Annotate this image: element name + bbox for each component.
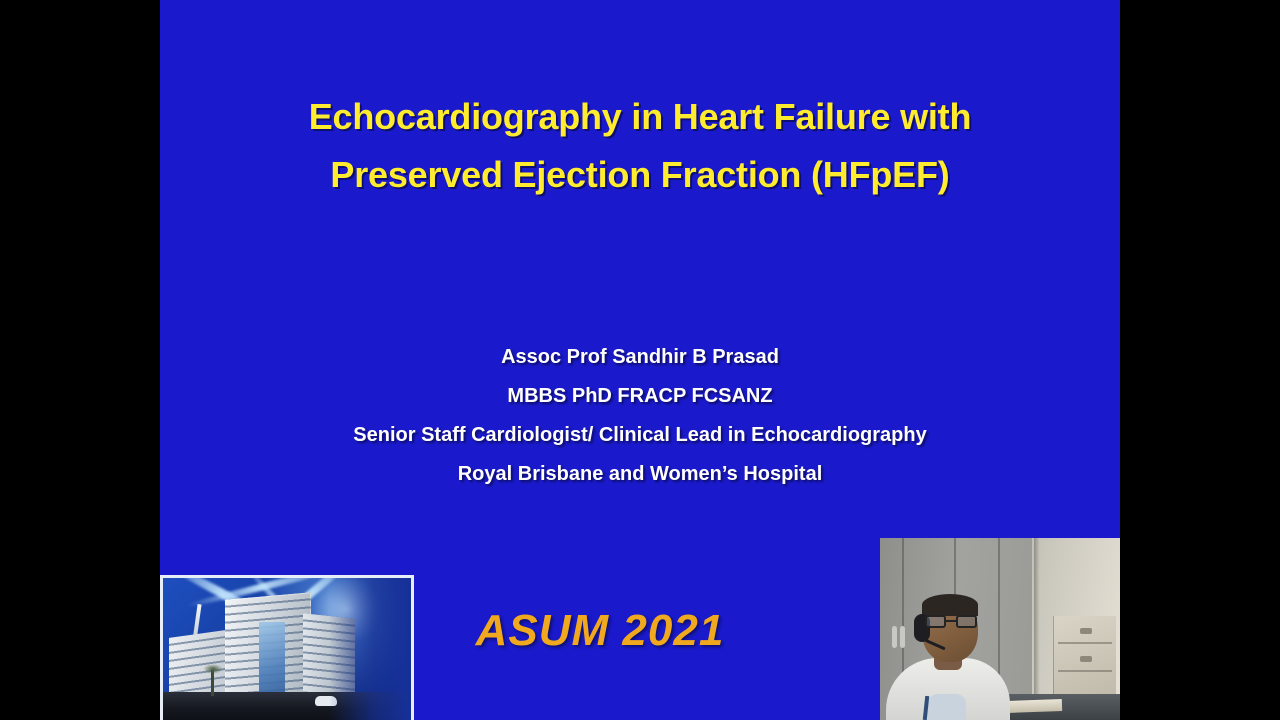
glasses-lens-right: [956, 615, 977, 628]
presenter-institution: Royal Brisbane and Women’s Hospital: [160, 455, 1120, 494]
slide-title-line-1: Echocardiography in Heart Failure with: [160, 88, 1120, 146]
drawer-knob: [1080, 656, 1092, 662]
webcam-papers: [1008, 699, 1062, 713]
video-player-viewport: Echocardiography in Heart Failure with P…: [0, 0, 1280, 720]
glasses-icon: [925, 615, 977, 628]
drawer-seam: [1058, 670, 1112, 672]
slide-title-line-2: Preserved Ejection Fraction (HFpEF): [160, 146, 1120, 204]
presenter-name: Assoc Prof Sandhir B Prasad: [160, 338, 1120, 377]
palm-tree-icon: [211, 670, 214, 696]
glasses-bridge: [946, 620, 956, 622]
webcam-drawer-unit: [1053, 616, 1116, 702]
hospital-photo-blue-fade: [329, 578, 411, 720]
presenter-role: Senior Staff Cardiologist/ Clinical Lead…: [160, 416, 1120, 455]
presenter-details: Assoc Prof Sandhir B Prasad MBBS PhD FRA…: [160, 338, 1120, 494]
presenter-shirt: [928, 694, 966, 720]
presenter-qualifications: MBBS PhD FRACP FCSANZ: [160, 377, 1120, 416]
slide-title: Echocardiography in Heart Failure with P…: [160, 88, 1120, 204]
presenter-webcam-overlay[interactable]: [880, 538, 1120, 720]
cabinet-handle: [900, 626, 905, 648]
cabinet-handle: [892, 626, 897, 648]
drawer-seam: [1058, 642, 1112, 644]
drawer-knob: [1080, 628, 1092, 634]
hospital-photo: [160, 575, 414, 720]
presenter-hair: [922, 594, 978, 616]
webcam-door-frame: [1034, 538, 1040, 720]
glasses-lens-left: [925, 615, 946, 628]
